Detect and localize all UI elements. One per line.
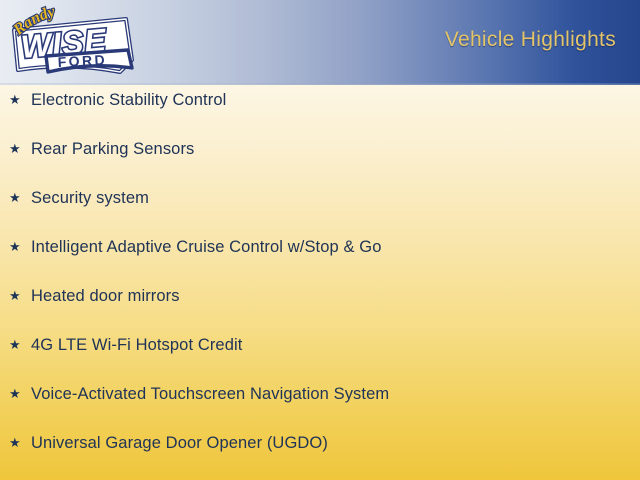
highlight-label: 4G LTE Wi-Fi Hotspot Credit [31, 337, 640, 354]
highlight-item: ★ Rear Parking Sensors [0, 141, 640, 190]
highlight-item: ★ Heated door mirrors [0, 288, 640, 337]
highlight-label: Universal Garage Door Opener (UGDO) [31, 435, 640, 452]
star-bullet-icon: ★ [9, 142, 31, 155]
highlight-item: ★ Universal Garage Door Opener (UGDO) [0, 435, 640, 480]
vehicle-highlights-slide: WISE Randy FORD Vehicle Highlights ★ Ele… [0, 0, 640, 480]
highlight-item: ★ Voice-Activated Touchscreen Navigation… [0, 386, 640, 435]
star-bullet-icon: ★ [9, 289, 31, 302]
highlight-item: ★ Security system [0, 190, 640, 239]
highlight-label: Heated door mirrors [31, 288, 640, 305]
vehicle-highlights-list: ★ Electronic Stability Control ★ Rear Pa… [0, 92, 640, 480]
highlight-label: Security system [31, 190, 640, 207]
header-bottom-edge [0, 83, 640, 85]
star-bullet-icon: ★ [9, 93, 31, 106]
highlight-label: Intelligent Adaptive Cruise Control w/St… [31, 239, 640, 256]
highlight-item: ★ 4G LTE Wi-Fi Hotspot Credit [0, 337, 640, 386]
highlight-label: Rear Parking Sensors [31, 141, 640, 158]
star-bullet-icon: ★ [9, 387, 31, 400]
logo-word-ford: FORD [57, 51, 107, 70]
highlight-item: ★ Electronic Stability Control [0, 92, 640, 141]
highlight-item: ★ Intelligent Adaptive Cruise Control w/… [0, 239, 640, 288]
logo-graphic: WISE Randy FORD [2, 2, 142, 82]
highlight-label: Voice-Activated Touchscreen Navigation S… [31, 386, 640, 403]
highlight-label: Electronic Stability Control [31, 92, 640, 109]
star-bullet-icon: ★ [9, 338, 31, 351]
star-bullet-icon: ★ [9, 240, 31, 253]
star-bullet-icon: ★ [9, 436, 31, 449]
page-title: Vehicle Highlights [445, 28, 616, 52]
star-bullet-icon: ★ [9, 191, 31, 204]
randy-wise-ford-logo: WISE Randy FORD [2, 2, 142, 82]
